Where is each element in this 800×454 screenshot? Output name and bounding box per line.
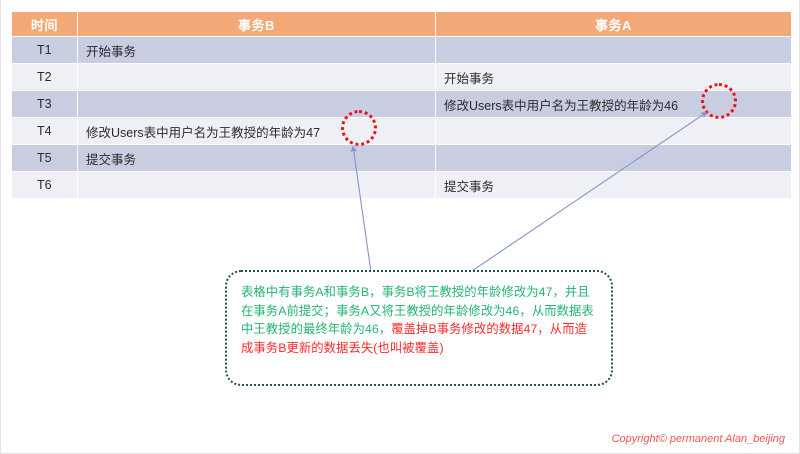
slide-canvas: 时间 事务B 事务A T1 开始事务 T2 开始事务 T3 修改Users表中用… [0, 0, 800, 454]
column-header-transaction-b: 事务B [78, 12, 436, 37]
explanation-text: 表格中有事务A和事务B，事务B将王教授的年龄修改为47，并且在事务A前提交；事务… [241, 283, 599, 357]
cell-time: T2 [12, 64, 78, 91]
cell-time: T5 [12, 145, 78, 172]
cell-transaction-a [436, 118, 792, 145]
cell-transaction-b [78, 91, 436, 118]
cell-transaction-a: 提交事务 [436, 172, 792, 199]
table-row: T1 开始事务 [12, 37, 792, 64]
cell-time: T3 [12, 91, 78, 118]
cell-transaction-a [436, 37, 792, 64]
explanation-callout-box: 表格中有事务A和事务B，事务B将王教授的年龄修改为47，并且在事务A前提交；事务… [225, 270, 613, 386]
column-header-time: 时间 [12, 12, 78, 37]
cell-time: T4 [12, 118, 78, 145]
table-row: T2 开始事务 [12, 64, 792, 91]
cell-transaction-b: 开始事务 [78, 37, 436, 64]
table-row: T3 修改Users表中用户名为王教授的年龄为46 [12, 91, 792, 118]
cell-transaction-a [436, 145, 792, 172]
table-row: T5 提交事务 [12, 145, 792, 172]
table-row: T4 修改Users表中用户名为王教授的年龄为47 [12, 118, 792, 145]
table-header-row: 时间 事务B 事务A [12, 12, 792, 37]
cell-time: T6 [12, 172, 78, 199]
transaction-timeline-table: 时间 事务B 事务A T1 开始事务 T2 开始事务 T3 修改Users表中用… [11, 12, 792, 199]
cell-transaction-b: 修改Users表中用户名为王教授的年龄为47 [78, 118, 436, 145]
cell-transaction-a: 修改Users表中用户名为王教授的年龄为46 [436, 91, 792, 118]
cell-transaction-a: 开始事务 [436, 64, 792, 91]
copyright-notice: Copyright© permanent Alan_beijing [612, 433, 785, 445]
column-header-transaction-a: 事务A [436, 12, 792, 37]
cell-transaction-b [78, 172, 436, 199]
cell-transaction-b [78, 64, 436, 91]
cell-time: T1 [12, 37, 78, 64]
cell-transaction-b: 提交事务 [78, 145, 436, 172]
table-row: T6 提交事务 [12, 172, 792, 199]
